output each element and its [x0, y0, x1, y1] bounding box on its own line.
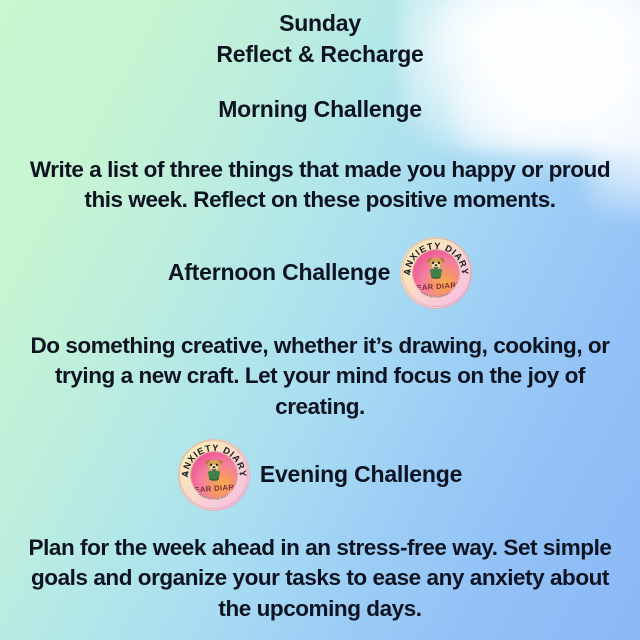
badge-inner-circle: DEAR DIARY: [413, 250, 459, 296]
star-icon: ✦: [238, 472, 243, 478]
heading-label: Morning Challenge: [218, 95, 422, 125]
anxiety-diary-logo-badge: ANXIETY DIARY ANXIETYDIARY ✦ ✦: [178, 439, 250, 511]
page-title-day: Sunday: [279, 8, 361, 39]
section-body-afternoon: Do something creative, whether it’s draw…: [14, 331, 626, 422]
poster-content: Sunday Reflect & Recharge Morning Challe…: [0, 0, 640, 640]
page-title-theme: Reflect & Recharge: [216, 39, 423, 70]
section-heading-afternoon: Afternoon Challenge ANXIETY DIARY ANXIET…: [14, 237, 626, 309]
star-icon: ✦: [461, 270, 466, 276]
section-heading-evening: ANXIETY DIARY ANXIETYDIARY ✦ ✦: [14, 439, 626, 511]
section-body-evening: Plan for the week ahead in an stress-fre…: [14, 533, 626, 624]
star-icon: ✦: [184, 472, 189, 478]
heading-label: Evening Challenge: [260, 460, 462, 490]
section-body-morning: Write a list of three things that made y…: [14, 155, 626, 216]
bear-mascot-icon: [423, 255, 449, 281]
heading-label: Afternoon Challenge: [168, 258, 390, 288]
section-heading-morning: Morning Challenge: [14, 95, 626, 125]
bear-mascot-icon: [201, 457, 227, 483]
star-icon: ✦: [407, 270, 412, 276]
anxiety-diary-logo-badge: ANXIETY DIARY ANXIETYDIARY ✦ ✦: [400, 237, 472, 309]
badge-inner-circle: DEAR DIARY: [191, 452, 237, 498]
